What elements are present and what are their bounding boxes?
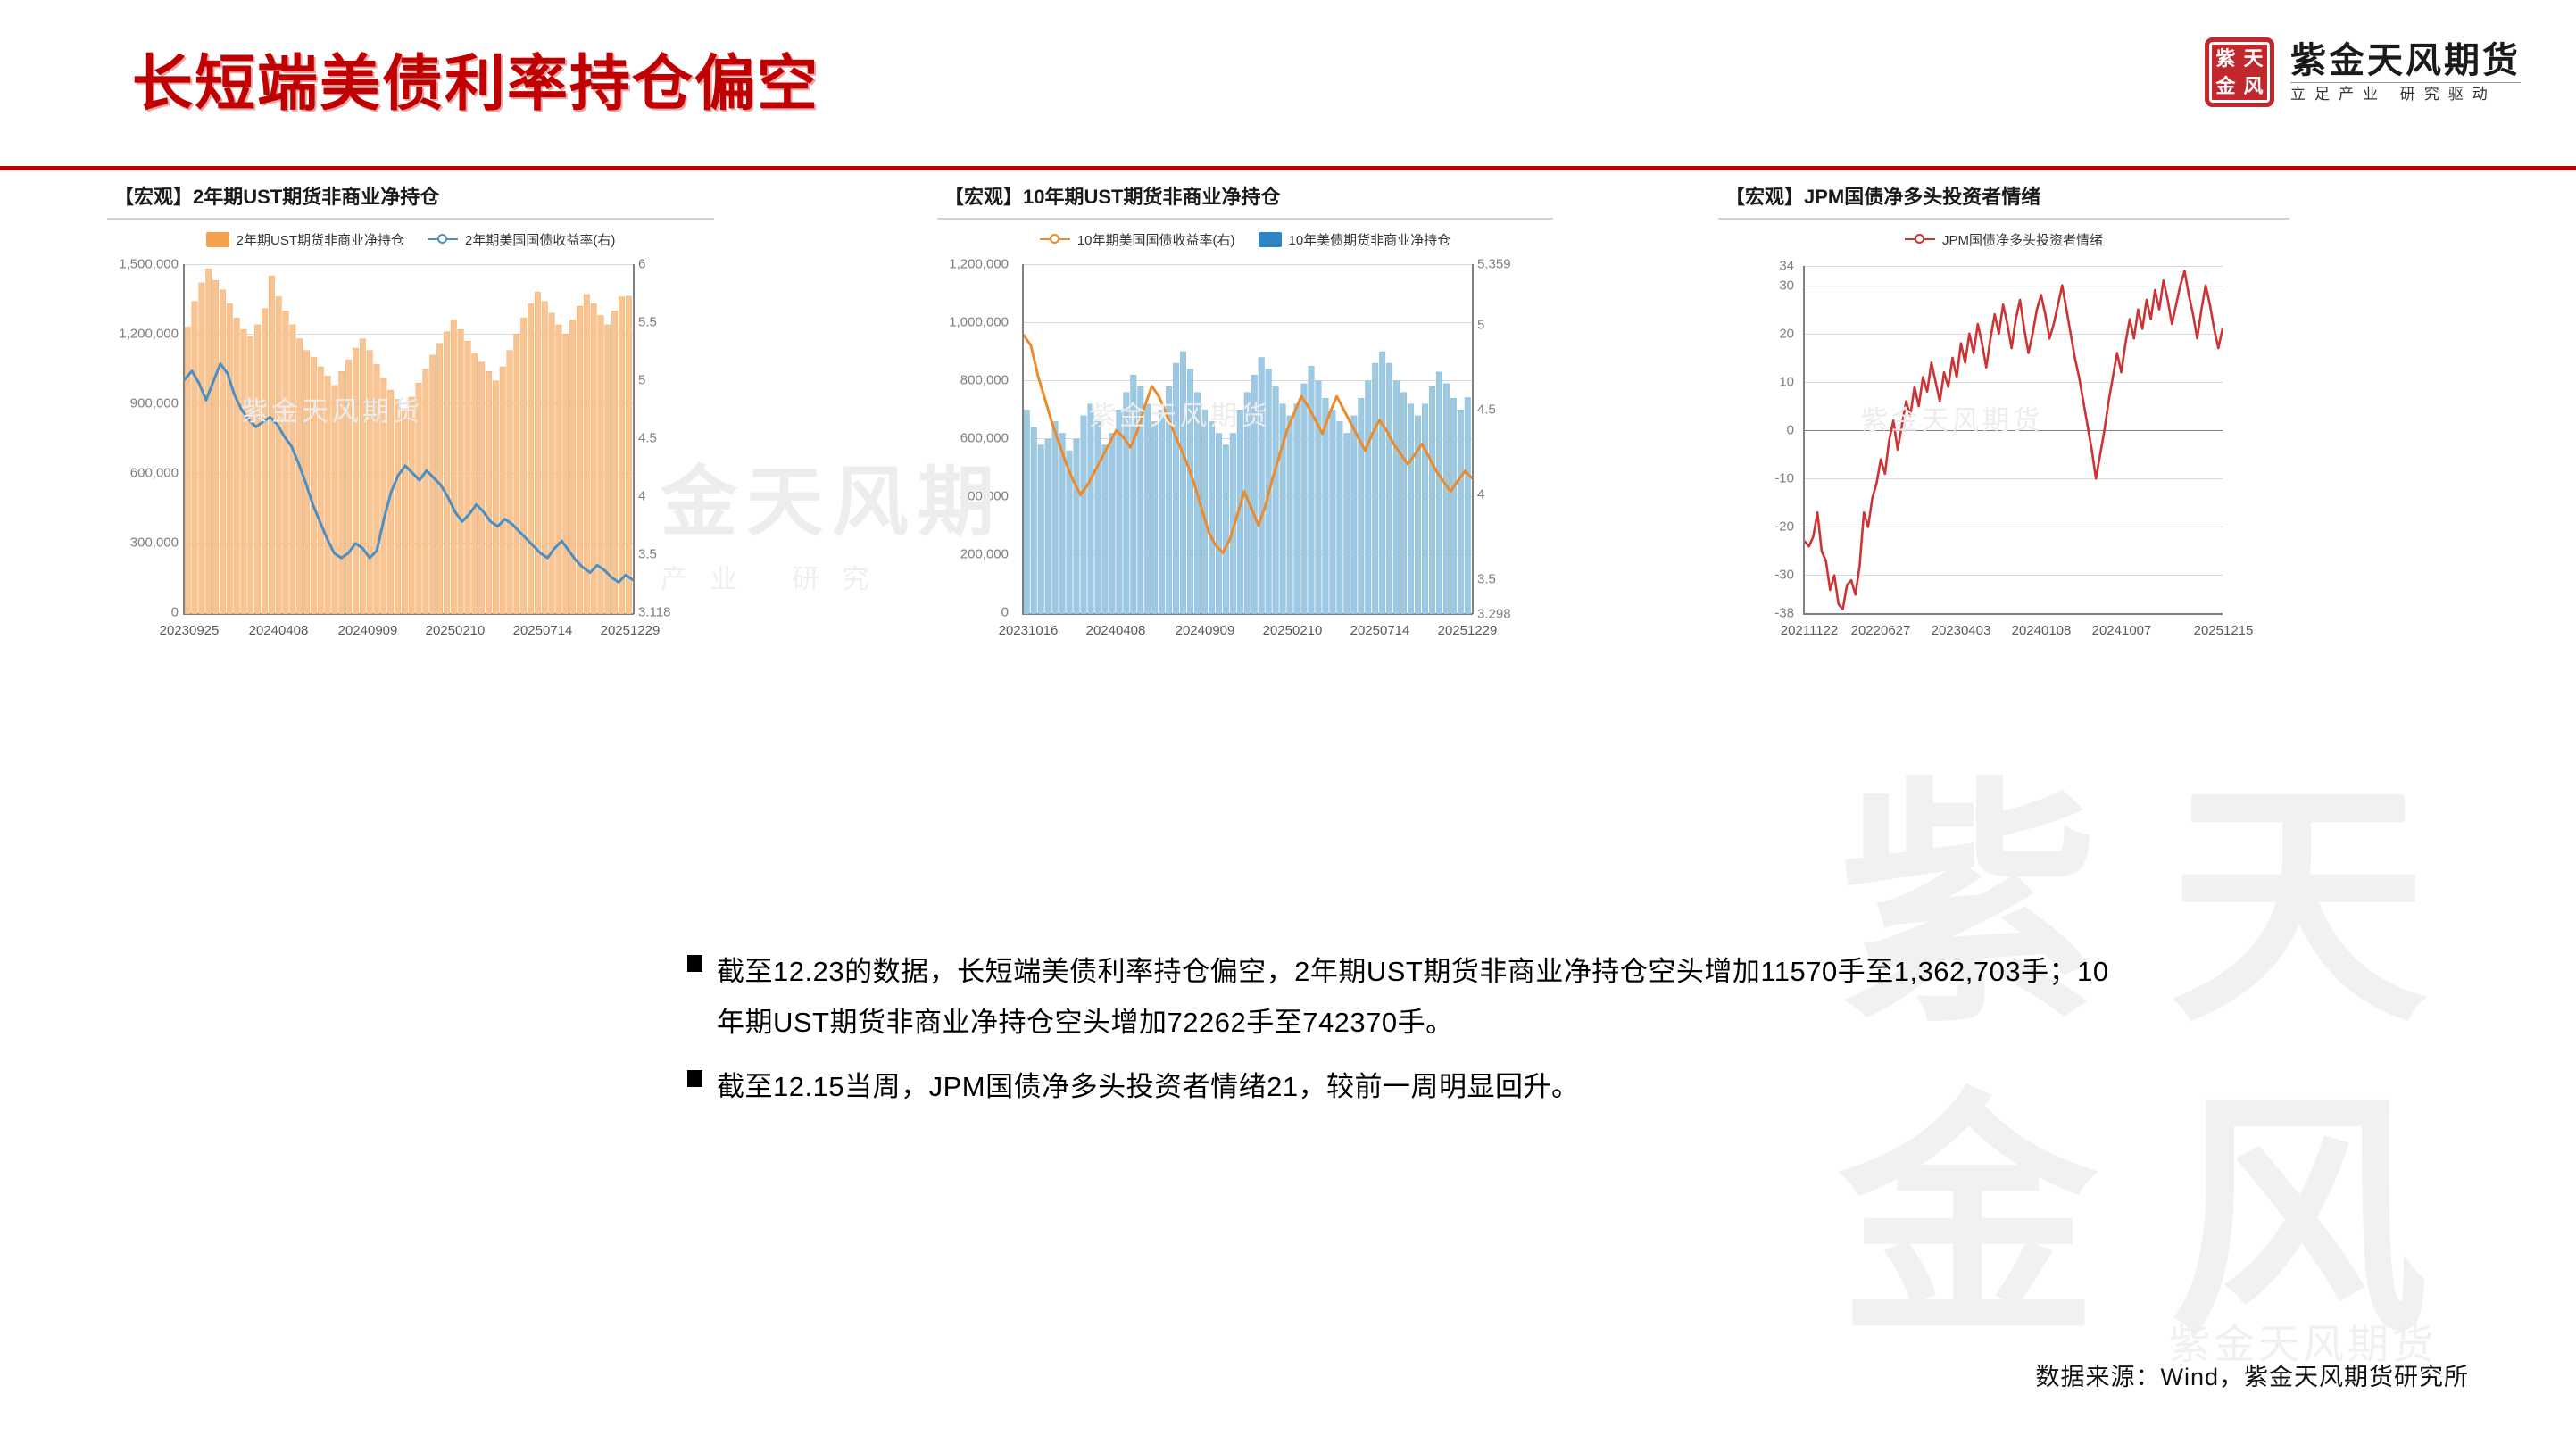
legend-line-swatch-icon — [1905, 233, 1935, 245]
y-axis-tick: 300,000 — [45, 535, 179, 551]
legend-item: JPM国债净多头投资者情绪 — [1905, 230, 2103, 249]
y2-axis-tick: 5 — [1477, 318, 1484, 333]
y-axis-tick: 1,200,000 — [45, 327, 179, 342]
y2-axis-tick: 5.359 — [1477, 257, 1511, 272]
y2-axis-tick: 4 — [1477, 487, 1484, 502]
y-axis-tick: 200,000 — [875, 547, 1009, 562]
chart-plot-area: 1,500,000 1,200,000 900,000 600,000 300,… — [107, 255, 714, 666]
x-axis-tick: 20220627 — [1851, 623, 1911, 638]
x-axis-tick: 20250714 — [513, 623, 573, 638]
x-axis-tick: 20250210 — [1263, 623, 1323, 638]
x-axis-tick: 20240408 — [1086, 623, 1146, 638]
bullet-text: 截至12.15当周，JPM国债净多头投资者情绪21，较前一周明显回升。 — [717, 1061, 1580, 1112]
legend-label: 10年美债期货非商业净持仓 — [1289, 230, 1451, 249]
legend-item: 2年期美国国债收益率(右) — [428, 230, 615, 249]
y-axis-tick: 400,000 — [875, 489, 1009, 504]
x-axis-tick: 20241007 — [2092, 623, 2152, 638]
y2-axis-tick: 3.5 — [638, 547, 657, 562]
x-axis-tick: 20250210 — [426, 623, 486, 638]
x-axis-tick: 20251229 — [601, 623, 661, 638]
seal-logo-icon: 紫 天 金 风 — [2205, 37, 2274, 107]
y-axis-tick: 10 — [1669, 375, 1794, 390]
seal-char-2: 天 — [2239, 45, 2267, 72]
legend-item: 10年美债期货非商业净持仓 — [1259, 230, 1451, 249]
seal-char-3: 金 — [2212, 72, 2239, 100]
y-axis-tick: -20 — [1669, 519, 1794, 535]
x-axis-tick: 20230925 — [160, 623, 220, 638]
seal-watermark-char-2: 天 — [2133, 750, 2464, 1062]
y-axis-tick: 900,000 — [45, 396, 179, 411]
x-axis-tick: 20240108 — [2012, 623, 2072, 638]
chart-series-svg — [1805, 266, 2223, 614]
legend-item: 2年期UST期货非商业净持仓 — [206, 230, 404, 249]
x-axis-tick: 20251215 — [2194, 623, 2254, 638]
y-axis-tick: -30 — [1669, 568, 1794, 583]
y-axis-tick: 800,000 — [875, 373, 1009, 388]
legend-label: JPM国债净多头投资者情绪 — [1942, 230, 2103, 249]
chart-rule — [1718, 218, 2289, 220]
x-axis-tick: 20230403 — [1932, 623, 1991, 638]
y2-axis-line — [633, 264, 635, 614]
y-axis-tick: -10 — [1669, 471, 1794, 486]
y2-axis-tick: 3.118 — [638, 605, 670, 620]
y-axis-tick: 0 — [45, 605, 179, 620]
x-axis-tick: 20231016 — [999, 623, 1059, 638]
legend-bar-swatch-icon — [206, 232, 229, 247]
y-axis-tick: 600,000 — [45, 466, 179, 481]
header-rule — [0, 166, 2576, 170]
legend-label: 10年期美国国债收益率(右) — [1077, 230, 1235, 249]
chart-title: 【宏观】10年期UST期货非商业净持仓 — [937, 187, 1553, 207]
x-axis-tick: 20251229 — [1438, 623, 1498, 638]
seal-char-1: 紫 — [2212, 45, 2239, 72]
chart-jpm-sentiment: 【宏观】JPM国债净多头投资者情绪 JPM国债净多头投资者情绪 34 30 20… — [1718, 187, 2289, 723]
chart-series-svg — [185, 264, 633, 614]
bullet-list: 截至12.23的数据，长短端美债利率持仓偏空，2年期UST期货非商业净持仓空头增… — [687, 946, 2115, 1124]
x-axis-tick: 20240909 — [338, 623, 398, 638]
y-axis-tick: 0 — [875, 605, 1009, 620]
chart-title: 【宏观】JPM国债净多头投资者情绪 — [1718, 187, 2289, 207]
y-axis-tick: 1,000,000 — [875, 315, 1009, 330]
seal-watermark-char-4: 风 — [2133, 1062, 2464, 1374]
y-axis-tick: 34 — [1669, 259, 1794, 274]
bullet-square-icon — [687, 1070, 702, 1087]
page-title: 长短端美债利率持仓偏空 — [132, 34, 819, 122]
y2-axis-tick: 5.5 — [638, 315, 657, 330]
bullet-text: 截至12.23的数据，长短端美债利率持仓偏空，2年期UST期货非商业净持仓空头增… — [717, 946, 2115, 1049]
y2-axis-tick: 5 — [638, 373, 645, 388]
company-logo: 紫 天 金 风 紫金天风期货 立足产业 研究驱动 — [2205, 37, 2521, 107]
legend-line-swatch-icon — [428, 233, 458, 245]
chart-rule — [937, 218, 1553, 220]
x-axis-tick: 20240909 — [1176, 623, 1235, 638]
chart-series-svg — [1024, 264, 1472, 614]
y-axis-tick: 0 — [1669, 423, 1794, 438]
charts-row: 【宏观】2年期UST期货非商业净持仓 2年期UST期货非商业净持仓 2年期美国国… — [0, 187, 2576, 723]
y-axis-tick: -38 — [1669, 606, 1794, 621]
chart-plot-area: 1,200,000 1,000,000 800,000 600,000 400,… — [937, 255, 1553, 666]
chart-2y-ust: 【宏观】2年期UST期货非商业净持仓 2年期UST期货非商业净持仓 2年期美国国… — [107, 187, 714, 723]
chart-10y-ust: 【宏观】10年期UST期货非商业净持仓 10年期美国国债收益率(右) 10年美债… — [937, 187, 1553, 723]
y-axis-tick: 20 — [1669, 327, 1794, 342]
x-axis-tick: 20240408 — [249, 623, 309, 638]
data-source-note: 数据来源：Wind，紫金天风期货研究所 — [2035, 1357, 2469, 1392]
chart-title: 【宏观】2年期UST期货非商业净持仓 — [107, 187, 714, 207]
slide-header: 长短端美债利率持仓偏空 紫 天 金 风 紫金天风期货 立足产业 研究驱动 — [0, 0, 2576, 166]
chart-legend: JPM国债净多头投资者情绪 — [1718, 228, 2289, 250]
legend-item: 10年期美国国债收益率(右) — [1040, 230, 1235, 249]
list-item: 截至12.23的数据，长短端美债利率持仓偏空，2年期UST期货非商业净持仓空头增… — [687, 946, 2115, 1049]
list-item: 截至12.15当周，JPM国债净多头投资者情绪21，较前一周明显回升。 — [687, 1061, 2115, 1112]
y-axis-tick: 600,000 — [875, 431, 1009, 446]
legend-label: 2年期UST期货非商业净持仓 — [237, 230, 404, 249]
slide: 长短端美债利率持仓偏空 紫 天 金 风 紫金天风期货 立足产业 研究驱动 【宏观… — [0, 0, 2576, 1444]
y-axis-tick: 1,500,000 — [45, 257, 179, 272]
chart-legend: 2年期UST期货非商业净持仓 2年期美国国债收益率(右) — [107, 228, 714, 250]
legend-label: 2年期美国国债收益率(右) — [465, 230, 615, 249]
x-axis-tick: 20250714 — [1350, 623, 1410, 638]
legend-line-swatch-icon — [1040, 233, 1070, 245]
chart-plot-area: 34 30 20 10 0 -10 -20 -30 -38 — [1718, 255, 2289, 666]
y2-axis-tick: 4.5 — [638, 431, 657, 446]
y2-axis-tick: 4.5 — [1477, 402, 1496, 418]
brand-name: 紫金天风期货 — [2290, 43, 2521, 79]
x-axis-tick: 20211122 — [1781, 623, 1839, 638]
chart-legend: 10年期美国国债收益率(右) 10年美债期货非商业净持仓 — [937, 228, 1553, 250]
y2-axis-tick: 3.5 — [1477, 572, 1496, 587]
seal-char-4: 风 — [2239, 72, 2267, 100]
bullet-square-icon — [687, 955, 702, 972]
y-axis-tick: 1,200,000 — [875, 257, 1009, 272]
y2-axis-tick: 4 — [638, 489, 645, 504]
logo-divider — [2290, 82, 2521, 83]
brand-tagline: 立足产业 研究驱动 — [2290, 87, 2521, 102]
legend-bar-swatch-icon — [1259, 232, 1282, 247]
y-axis-tick: 30 — [1669, 278, 1794, 294]
chart-rule — [107, 218, 714, 220]
y2-axis-tick: 3.298 — [1477, 607, 1511, 622]
y2-axis-line — [1472, 264, 1474, 614]
y2-axis-tick: 6 — [638, 257, 645, 272]
